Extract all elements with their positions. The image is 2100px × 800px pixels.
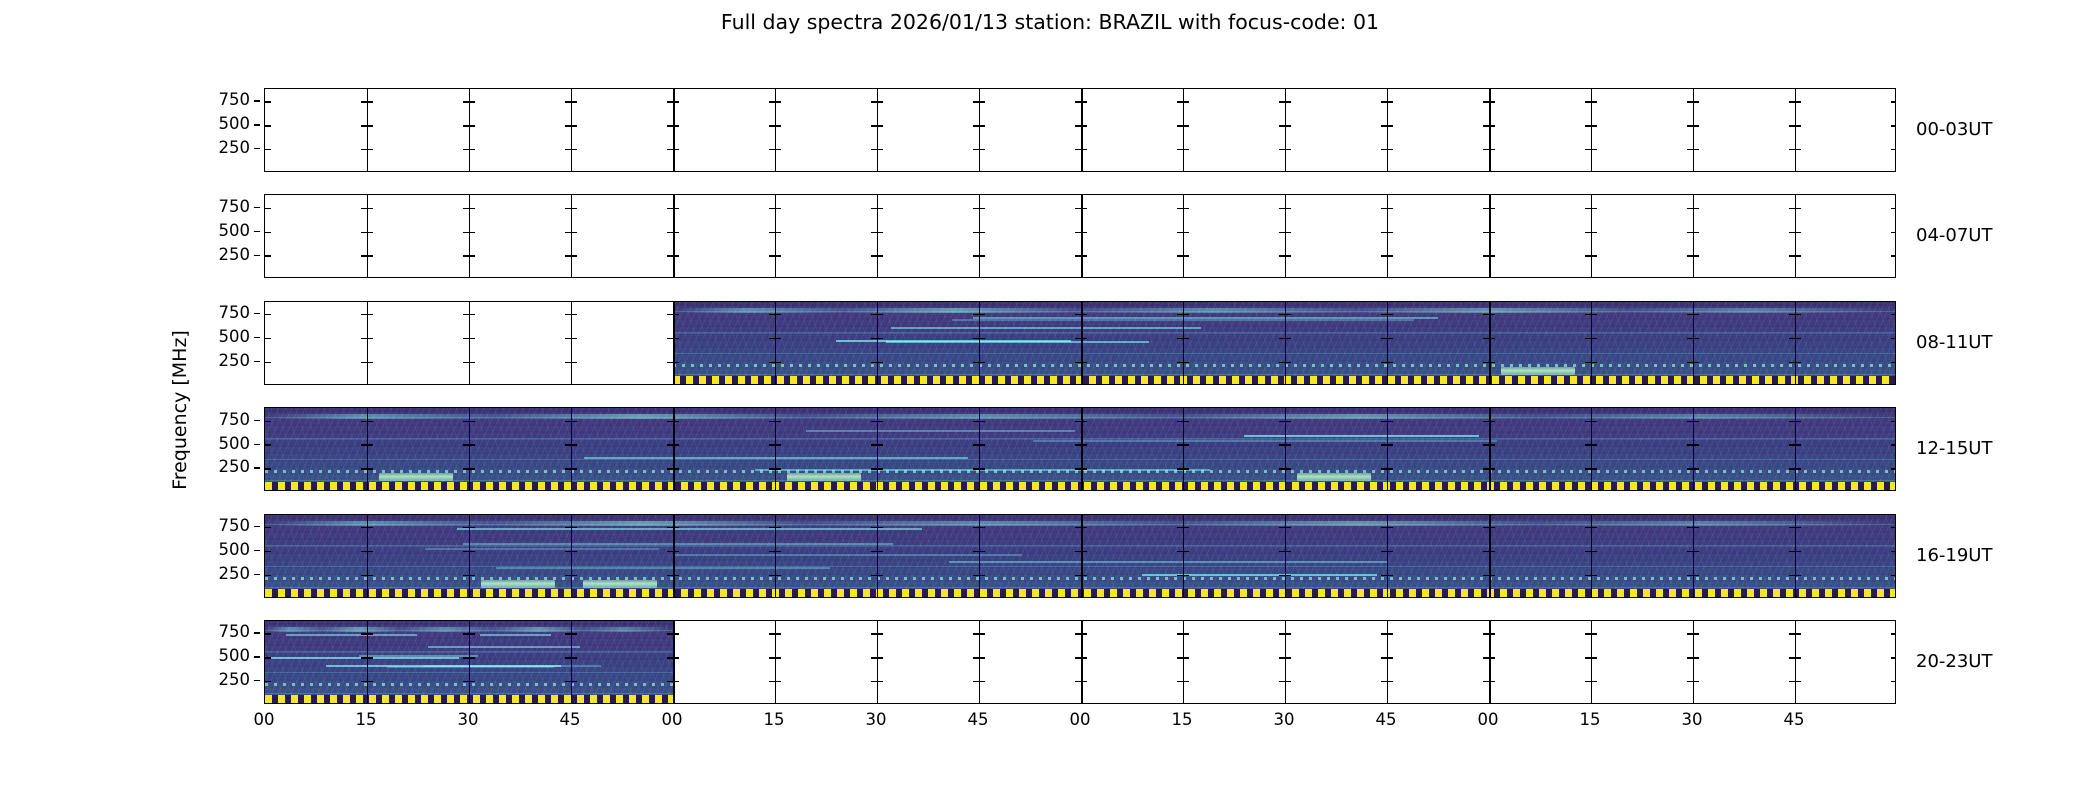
y-tick-mark (1183, 633, 1189, 634)
y-tick-mark (469, 444, 475, 445)
y-tick-mark (469, 232, 475, 233)
x-tick-label: 45 (968, 710, 989, 730)
y-tick-mark (1795, 149, 1801, 150)
y-tick-mark (571, 314, 577, 315)
y-tick-mark (1795, 232, 1801, 233)
y-tick-mark (673, 208, 679, 209)
y-tick-mark (1489, 149, 1495, 150)
y-tick-mark (775, 149, 781, 150)
y-tick-mark (571, 657, 577, 658)
y-tick-mark (1795, 633, 1801, 634)
spectrogram-emission-patch (1297, 473, 1370, 481)
y-tick-mark (1693, 575, 1699, 576)
y-tick-mark (673, 575, 679, 576)
y-tick-mark (1693, 338, 1699, 339)
y-tick-mark (1285, 551, 1291, 552)
y-tick-mark (367, 421, 373, 422)
y-tick-mark (673, 633, 679, 634)
y-tick-mark (469, 527, 475, 528)
y-tick-mark (1081, 362, 1087, 363)
y-tick-mark (367, 149, 373, 150)
y-tick-mark (1591, 232, 1597, 233)
y-tick-mark (367, 551, 373, 552)
spectrogram-trace (1033, 440, 1497, 442)
y-axis-tick-labels: 7505002507505002507505002507505002507505… (188, 88, 250, 704)
y-tick-mark (265, 314, 271, 315)
y-tick-mark (673, 444, 679, 445)
spectrogram-trace (973, 317, 1438, 319)
y-tick-mark (1183, 255, 1189, 256)
y-tick-mark (1891, 468, 1896, 469)
x-tick-label: 45 (1784, 710, 1805, 730)
y-tick-mark (1387, 633, 1393, 634)
y-tick-mark (1387, 681, 1393, 682)
y-tick-mark (571, 362, 577, 363)
y-tick-mark (1693, 551, 1699, 552)
x-tick-label: 00 (1070, 710, 1091, 730)
spectrogram-trace (806, 430, 1075, 432)
y-tick-mark (1183, 362, 1189, 363)
y-tick-mark (979, 338, 985, 339)
y-tick-mark (1285, 362, 1291, 363)
y-tick-mark (1183, 657, 1189, 658)
y-tick-mark (265, 681, 271, 682)
y-tick-mark (367, 657, 373, 658)
y-tick-mark (571, 444, 577, 445)
spectrogram-row-20-23ut (264, 620, 1896, 704)
y-tick-mark-outer (254, 313, 260, 314)
y-tick-mark (775, 232, 781, 233)
spectrogram-trace (755, 469, 1211, 471)
y-tick-mark (877, 362, 883, 363)
y-tick-mark (1795, 208, 1801, 209)
y-tick-mark (1591, 421, 1597, 422)
y-tick-mark (1285, 208, 1291, 209)
y-tick-mark (367, 208, 373, 209)
y-tick-mark (1693, 657, 1699, 658)
x-tick-label: 30 (866, 710, 887, 730)
y-tick-mark (1591, 125, 1597, 126)
spectrogram-grid (264, 88, 1896, 704)
x-tick-label: 45 (1376, 710, 1397, 730)
y-tick-mark (979, 444, 985, 445)
y-tick-mark (1285, 125, 1291, 126)
y-tick-mark (1081, 232, 1087, 233)
y-tick-mark (265, 101, 271, 102)
y-tick-mark (775, 468, 781, 469)
y-tick-label: 500 (219, 648, 251, 664)
spectrogram-row-12-15ut (264, 407, 1896, 491)
y-tick-mark (469, 149, 475, 150)
y-tick-mark (673, 657, 679, 658)
y-tick-mark (673, 551, 679, 552)
spectrogram-trace (326, 665, 561, 667)
spectrogram-trace (949, 561, 1389, 563)
y-tick-mark (1285, 633, 1291, 634)
y-tick-mark (265, 338, 271, 339)
y-tick-mark (1285, 575, 1291, 576)
y-tick-mark (469, 421, 475, 422)
y-tick-mark (571, 468, 577, 469)
y-tick-mark-outer (254, 148, 260, 149)
x-tick-label: 00 (662, 710, 683, 730)
y-tick-mark (571, 527, 577, 528)
y-tick-mark (1795, 362, 1801, 363)
y-tick-mark (1183, 468, 1189, 469)
y-tick-mark (979, 468, 985, 469)
y-tick-mark (1591, 255, 1597, 256)
y-tick-mark (469, 314, 475, 315)
y-tick-mark (265, 208, 271, 209)
y-tick-mark (1591, 633, 1597, 634)
y-tick-label: 250 (219, 247, 251, 263)
y-tick-mark (1693, 208, 1699, 209)
y-tick-mark (673, 468, 679, 469)
row-time-label: 04-07UT (1916, 225, 1992, 247)
y-tick-mark-outer (254, 231, 260, 232)
y-tick-mark (1591, 468, 1597, 469)
spectrogram-emission-patch (787, 473, 860, 481)
y-tick-mark (1795, 125, 1801, 126)
y-tick-mark (1285, 421, 1291, 422)
y-tick-mark (571, 149, 577, 150)
y-tick-mark (265, 657, 271, 658)
y-tick-mark (877, 681, 883, 682)
y-tick-mark (1891, 421, 1896, 422)
y-tick-mark-outer (254, 420, 260, 421)
y-tick-mark-outer (254, 680, 260, 681)
y-tick-mark (1891, 255, 1896, 256)
x-tick-label: 15 (1580, 710, 1601, 730)
y-tick-mark (469, 551, 475, 552)
y-tick-mark (1081, 657, 1087, 658)
y-tick-mark (367, 255, 373, 256)
y-tick-mark (469, 208, 475, 209)
spectrogram-trace (463, 543, 893, 545)
y-tick-mark (775, 362, 781, 363)
y-tick-label: 250 (219, 566, 251, 582)
y-tick-label: 750 (219, 92, 251, 108)
y-tick-mark (1591, 362, 1597, 363)
y-tick-mark (265, 444, 271, 445)
y-tick-mark (877, 657, 883, 658)
y-tick-mark-outer (254, 444, 260, 445)
row-time-labels: 00-03UT04-07UT08-11UT12-15UT16-19UT20-23… (1916, 88, 2096, 704)
y-tick-mark (1387, 232, 1393, 233)
y-tick-mark (469, 575, 475, 576)
y-tick-mark (1285, 149, 1291, 150)
y-tick-mark (571, 101, 577, 102)
y-tick-mark (265, 421, 271, 422)
row-time-label: 16-19UT (1916, 545, 1992, 567)
y-tick-mark (1891, 208, 1896, 209)
y-tick-mark (979, 314, 985, 315)
y-tick-mark (979, 149, 985, 150)
y-tick-mark (1795, 681, 1801, 682)
y-tick-mark (979, 421, 985, 422)
y-tick-mark (367, 314, 373, 315)
y-tick-mark (265, 551, 271, 552)
x-tick-label: 15 (764, 710, 785, 730)
y-tick-mark (877, 338, 883, 339)
y-tick-label: 250 (219, 353, 251, 369)
y-tick-mark (775, 101, 781, 102)
x-axis-tick-labels: 00153045001530450015304500153045 (264, 710, 1896, 736)
y-tick-mark (1795, 527, 1801, 528)
y-tick-mark (673, 681, 679, 682)
y-tick-mark (979, 255, 985, 256)
y-tick-mark (979, 681, 985, 682)
y-tick-mark (1693, 421, 1699, 422)
y-tick-mark (1183, 125, 1189, 126)
y-tick-mark (1891, 551, 1896, 552)
y-tick-mark-outer (254, 337, 260, 338)
y-tick-mark (367, 527, 373, 528)
y-tick-mark (1387, 362, 1393, 363)
y-tick-mark (1891, 125, 1896, 126)
row-time-label: 00-03UT (1916, 119, 1992, 141)
y-tick-mark (265, 362, 271, 363)
y-tick-mark (775, 527, 781, 528)
y-tick-mark (979, 551, 985, 552)
y-tick-mark (571, 575, 577, 576)
y-tick-label: 750 (219, 518, 251, 534)
y-tick-mark (367, 633, 373, 634)
y-tick-mark-outer (254, 124, 260, 125)
y-tick-mark (877, 125, 883, 126)
y-tick-mark (1387, 421, 1393, 422)
y-tick-mark (1081, 681, 1087, 682)
y-tick-mark (469, 468, 475, 469)
y-tick-label: 500 (219, 116, 251, 132)
y-tick-mark (1693, 633, 1699, 634)
y-tick-mark (265, 255, 271, 256)
y-tick-mark (367, 232, 373, 233)
y-tick-mark (1693, 255, 1699, 256)
y-tick-mark (1081, 255, 1087, 256)
spectrogram-row-16-19ut (264, 514, 1896, 598)
y-tick-mark (1183, 101, 1189, 102)
y-tick-mark (775, 551, 781, 552)
y-tick-mark (1591, 338, 1597, 339)
y-tick-mark (673, 527, 679, 528)
y-tick-mark (979, 232, 985, 233)
y-tick-mark (1081, 551, 1087, 552)
y-tick-mark (469, 255, 475, 256)
y-tick-label: 750 (219, 305, 251, 321)
y-tick-mark (469, 657, 475, 658)
y-tick-mark (673, 125, 679, 126)
y-tick-mark (1489, 125, 1495, 126)
y-tick-mark (979, 362, 985, 363)
y-tick-mark (1891, 681, 1896, 682)
spectrogram-trace (480, 634, 551, 636)
y-tick-mark (1591, 527, 1597, 528)
y-tick-mark-outer (254, 526, 260, 527)
y-tick-mark (673, 232, 679, 233)
y-tick-mark (1081, 468, 1087, 469)
y-tick-mark (1693, 444, 1699, 445)
y-tick-mark (1285, 468, 1291, 469)
y-tick-mark (1183, 575, 1189, 576)
y-tick-mark (775, 444, 781, 445)
y-tick-mark-outer (254, 255, 260, 256)
y-tick-mark (367, 681, 373, 682)
y-tick-mark (1693, 125, 1699, 126)
y-tick-mark (571, 421, 577, 422)
y-tick-mark (1081, 527, 1087, 528)
y-tick-mark (1591, 208, 1597, 209)
y-tick-mark (571, 551, 577, 552)
y-tick-mark (1081, 314, 1087, 315)
y-tick-mark (775, 657, 781, 658)
y-tick-mark-outer (254, 632, 260, 633)
y-tick-mark (877, 633, 883, 634)
y-tick-mark (1387, 444, 1393, 445)
y-tick-mark (1387, 575, 1393, 576)
y-tick-mark (1285, 255, 1291, 256)
y-tick-mark (367, 575, 373, 576)
y-tick-mark (877, 208, 883, 209)
y-tick-mark (877, 101, 883, 102)
y-tick-mark (775, 681, 781, 682)
y-tick-mark (1795, 444, 1801, 445)
y-tick-mark (1183, 208, 1189, 209)
y-tick-mark (1591, 444, 1597, 445)
y-tick-mark (1591, 575, 1597, 576)
y-tick-mark (1891, 338, 1896, 339)
spectrogram-trace (891, 327, 1201, 329)
y-tick-label: 250 (219, 672, 251, 688)
y-tick-mark (367, 362, 373, 363)
y-tick-mark (1183, 527, 1189, 528)
y-tick-mark (1891, 149, 1896, 150)
y-tick-mark (1591, 551, 1597, 552)
y-tick-mark (775, 208, 781, 209)
y-tick-mark (1387, 314, 1393, 315)
y-tick-mark (1183, 681, 1189, 682)
y-tick-label: 750 (219, 199, 251, 215)
y-tick-mark (1285, 101, 1291, 102)
y-tick-mark (1693, 527, 1699, 528)
y-tick-mark (673, 149, 679, 150)
y-tick-mark (979, 101, 985, 102)
y-tick-mark (775, 421, 781, 422)
row-time-label: 08-11UT (1916, 332, 1992, 354)
x-tick-label: 45 (560, 710, 581, 730)
y-tick-mark (877, 232, 883, 233)
y-tick-mark (877, 149, 883, 150)
x-tick-label: 30 (1682, 710, 1703, 730)
y-tick-mark (1795, 551, 1801, 552)
y-tick-mark (775, 338, 781, 339)
spectrogram-trace (674, 554, 1022, 556)
y-tick-mark-outer (254, 467, 260, 468)
y-tick-mark (1795, 657, 1801, 658)
y-tick-mark (469, 362, 475, 363)
y-tick-mark (877, 551, 883, 552)
y-tick-mark (1591, 681, 1597, 682)
y-tick-mark (1693, 314, 1699, 315)
y-tick-mark (673, 421, 679, 422)
y-tick-mark (1387, 125, 1393, 126)
y-tick-mark (1489, 551, 1495, 552)
y-tick-mark (1693, 101, 1699, 102)
y-tick-mark (1693, 362, 1699, 363)
y-tick-mark (1693, 232, 1699, 233)
y-tick-mark (265, 468, 271, 469)
y-tick-mark (775, 255, 781, 256)
y-tick-mark (1387, 255, 1393, 256)
y-tick-mark (1489, 527, 1495, 528)
y-tick-mark-outer (254, 361, 260, 362)
y-tick-mark (1693, 468, 1699, 469)
y-tick-mark (1891, 527, 1896, 528)
y-tick-mark (571, 232, 577, 233)
y-tick-label: 500 (219, 542, 251, 558)
y-tick-mark (1387, 338, 1393, 339)
y-tick-mark (265, 232, 271, 233)
spectrogram-trace (496, 567, 830, 569)
y-tick-mark (1795, 575, 1801, 576)
y-tick-mark (571, 255, 577, 256)
y-tick-mark-outer (254, 100, 260, 101)
x-tick-label: 30 (1274, 710, 1295, 730)
y-tick-mark (1285, 527, 1291, 528)
y-tick-mark (979, 575, 985, 576)
page-title: Full day spectra 2026/01/13 station: BRA… (0, 8, 2100, 36)
y-tick-mark (877, 527, 883, 528)
y-tick-mark (673, 314, 679, 315)
y-tick-mark (265, 575, 271, 576)
y-tick-mark (1693, 149, 1699, 150)
y-tick-mark (1081, 208, 1087, 209)
y-tick-mark (1081, 444, 1087, 445)
y-tick-mark (1387, 468, 1393, 469)
y-tick-label: 250 (219, 459, 251, 475)
y-tick-mark (1795, 255, 1801, 256)
row-time-label: 20-23UT (1916, 651, 1992, 673)
y-tick-mark (1489, 338, 1495, 339)
y-tick-mark (1183, 149, 1189, 150)
y-tick-mark (571, 338, 577, 339)
y-tick-mark (1891, 657, 1896, 658)
y-tick-mark (1891, 314, 1896, 315)
y-tick-mark (1489, 232, 1495, 233)
y-tick-mark (1891, 232, 1896, 233)
y-tick-mark (979, 208, 985, 209)
y-tick-mark (1795, 421, 1801, 422)
y-tick-mark (673, 362, 679, 363)
y-tick-mark (673, 338, 679, 339)
spectrogram-row-08-11ut (264, 301, 1896, 385)
y-tick-mark (1387, 657, 1393, 658)
y-tick-mark (1795, 468, 1801, 469)
y-tick-mark (1591, 101, 1597, 102)
y-tick-mark (367, 444, 373, 445)
y-tick-mark (775, 125, 781, 126)
y-tick-mark (1489, 314, 1495, 315)
y-tick-mark (979, 657, 985, 658)
y-tick-label: 500 (219, 223, 251, 239)
y-tick-mark (1183, 338, 1189, 339)
y-tick-mark (1387, 149, 1393, 150)
y-tick-mark (265, 149, 271, 150)
spectrogram-row-04-07ut (264, 194, 1896, 278)
y-tick-mark (1591, 657, 1597, 658)
y-tick-mark (673, 255, 679, 256)
y-tick-label: 750 (219, 412, 251, 428)
